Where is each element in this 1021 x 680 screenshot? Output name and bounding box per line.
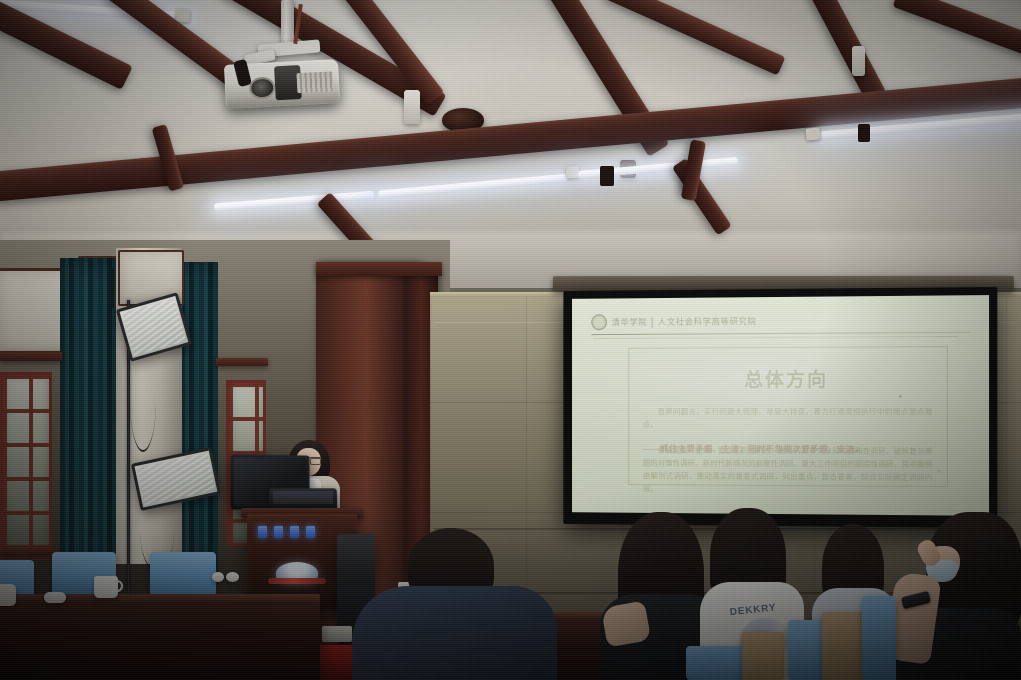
- slide-header-rule-secondary: [593, 336, 958, 339]
- slide-logo-divider: [652, 316, 653, 327]
- lectern-emblem-base: [268, 578, 326, 584]
- slide-logo-institution: 清华学院: [612, 316, 647, 328]
- lecture-hall-scene: 清华学院 人文社会科学高等研究院 总体方向 直奔问题去，实行问题大梳理、难题大排…: [0, 0, 1021, 680]
- wall-wood-trim: [0, 548, 58, 556]
- signage-glyph: [274, 526, 283, 538]
- window-left: [0, 372, 52, 560]
- white-cup-lid[interactable]: [226, 572, 239, 582]
- white-cup-lid[interactable]: [212, 572, 224, 582]
- slide-speck: [938, 470, 941, 473]
- floor-power-strip: [322, 626, 352, 642]
- ceiling-sensor-box: [852, 46, 865, 76]
- slide-paragraph-1: 直奔问题去，实行问题大梳理、难题大排查，着力打通贯彻执行中的堵点淤点难点。: [643, 405, 933, 431]
- ceiling-sensor-box: [404, 90, 420, 124]
- slide-title: 总体方向: [629, 364, 947, 392]
- hanging-wire: [112, 268, 114, 308]
- white-saucer[interactable]: [44, 592, 66, 603]
- light-hanger-bracket: [858, 124, 870, 142]
- signage-glyph: [290, 526, 299, 538]
- signage-glyph: [306, 526, 315, 538]
- tube-end-cap: [806, 127, 821, 140]
- window-curtain: [180, 262, 218, 574]
- wall-header-trim: [316, 262, 442, 276]
- blue-auditorium-chair[interactable]: [150, 552, 216, 596]
- presenter-laptop[interactable]: [269, 488, 337, 510]
- projection-screen: 清华学院 人文社会科学高等研究院 总体方向 直奔问题去，实行问题大梳理、难题大排…: [563, 287, 997, 528]
- slide-highlight-line: ——抓住主要矛盾、主流；同时不忽视次要矛盾、支流。: [643, 443, 933, 456]
- university-seal-icon: [591, 314, 606, 330]
- window-curtain: [60, 258, 116, 568]
- attendee-torso: [352, 586, 557, 680]
- slide-speck: [899, 395, 902, 398]
- wooden-chair-back[interactable]: [742, 632, 784, 680]
- slide-logo-department: 人文社会科学高等研究院: [658, 315, 757, 328]
- signage-glyph: [258, 526, 267, 538]
- dark-wood-conference-table: [0, 602, 320, 680]
- slide-header: 清华学院 人文社会科学高等研究院: [591, 307, 968, 334]
- tube-end-cap: [176, 9, 191, 23]
- slide-content-box: 总体方向 直奔问题去，实行问题大梳理、难题大排查，着力打通贯彻执行中的堵点淤点难…: [628, 346, 948, 487]
- blue-auditorium-chair[interactable]: [686, 646, 746, 680]
- light-power-cable: [130, 350, 156, 452]
- blue-auditorium-chair[interactable]: [862, 596, 896, 680]
- projector-mount-pole: [281, 0, 294, 46]
- attendee-navy-foreground: [352, 528, 557, 680]
- projector-lens-icon: [249, 76, 276, 99]
- white-cup[interactable]: [0, 584, 16, 606]
- wall-wood-trim: [0, 352, 62, 361]
- light-hanger-bracket: [600, 166, 614, 186]
- projector-vent: [296, 71, 333, 93]
- lectern-illuminated-signage: [258, 524, 344, 539]
- wall-wood-trim: [216, 358, 268, 366]
- presentation-slide: 清华学院 人文社会科学高等研究院 总体方向 直奔问题去，实行问题大梳理、难题大排…: [572, 295, 989, 516]
- attendee-masked-right: [890, 512, 1021, 680]
- white-mug[interactable]: [94, 576, 118, 598]
